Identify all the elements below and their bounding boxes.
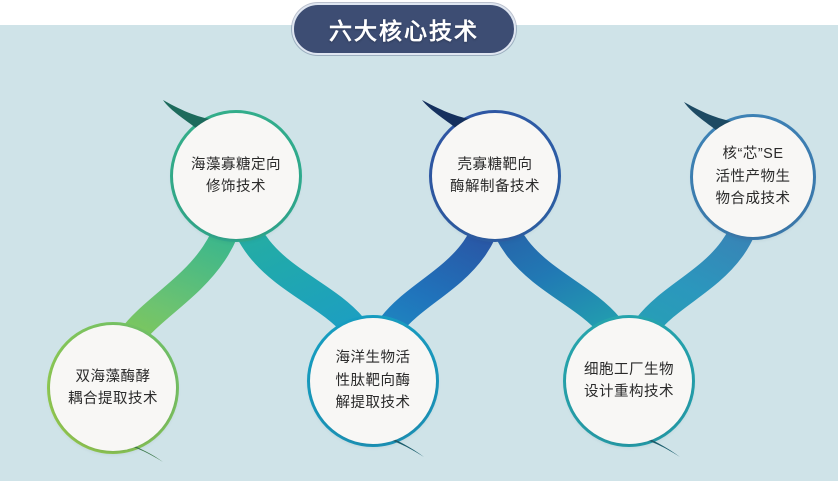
node-algae-oligosaccharide[interactable]: 海藻寡糖定向 修饰技术 [173, 113, 299, 239]
node-dual-algae-enzyme[interactable]: 双海藻酶酵 耦合提取技术 [50, 325, 176, 451]
node-core-se-biosynthesis[interactable]: 核“芯”SE 活性产物生 物合成技术 [693, 117, 813, 237]
title-badge: 六大核心技术 [292, 3, 516, 55]
node-marine-peptide[interactable]: 海洋生物活 性肽靶向酶 解提取技术 [310, 318, 436, 444]
node-label-6: 核“芯”SE 活性产物生 物合成技术 [712, 143, 795, 210]
node-label-4: 壳寡糖靶向 酶解制备技术 [446, 154, 544, 199]
node-cell-factory[interactable]: 细胞工厂生物 设计重构技术 [566, 318, 692, 444]
page-title: 六大核心技术 [329, 12, 479, 46]
node-label-2: 海藻寡糖定向 修饰技术 [187, 154, 285, 199]
node-chitosan-oligosaccharide[interactable]: 壳寡糖靶向 酶解制备技术 [432, 113, 558, 239]
node-label-1: 双海藻酶酵 耦合提取技术 [64, 366, 162, 411]
node-label-3: 海洋生物活 性肽靶向酶 解提取技术 [332, 347, 415, 414]
infographic-canvas: 六大核心技术 双海藻酶酵 耦合提取技术 海藻寡糖定向 修饰技术 海洋生物活 性肽… [0, 0, 838, 481]
node-label-5: 细胞工厂生物 设计重构技术 [580, 359, 678, 404]
